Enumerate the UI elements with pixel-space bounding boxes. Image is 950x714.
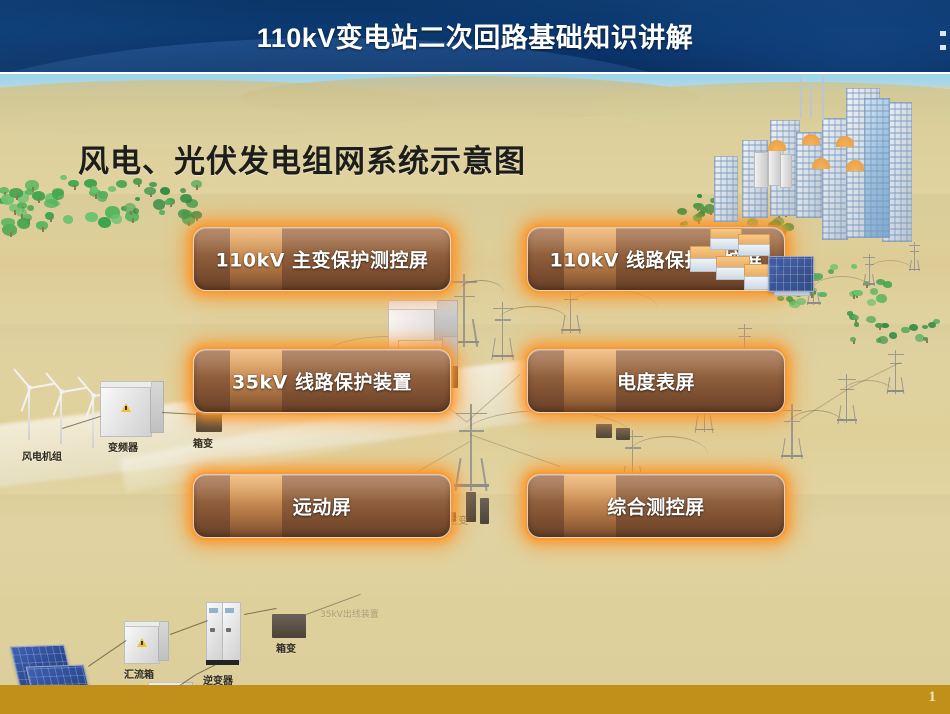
tree-foliage	[159, 210, 164, 215]
tree-trunk	[130, 211, 132, 215]
tree-foliage	[44, 199, 58, 208]
tree-foliage	[1, 218, 15, 227]
tree-foliage	[63, 215, 73, 224]
inverter-cabinet	[206, 602, 244, 664]
antenna-mast	[800, 78, 802, 118]
plant-dome	[802, 134, 820, 145]
btn-remote-control[interactable]: 远动屏	[193, 474, 451, 538]
building-pv-array	[768, 256, 814, 292]
frequency-converter-cabinet	[100, 379, 164, 435]
box-transformer-pv	[272, 614, 306, 638]
warning-triangle-icon	[137, 638, 147, 647]
presentation-slide: 110kV变电站二次回路基础知识讲解 变频器	[0, 0, 950, 714]
substation-device	[480, 498, 489, 524]
city-skyline	[650, 74, 950, 334]
label-wind-turbine-group: 风电机组	[22, 448, 62, 463]
label-main-transformer: 主变	[448, 512, 468, 527]
combiner-box-1	[124, 620, 170, 664]
pv-panel	[26, 664, 95, 685]
power-plant-building	[710, 228, 740, 248]
antenna-mast	[822, 76, 824, 120]
tree-trunk	[16, 195, 18, 200]
btn-integrated-control[interactable]: 综合测控屏	[527, 474, 785, 538]
tree-foliage	[180, 188, 186, 193]
label-box-transformer-wind: 箱变	[193, 435, 213, 450]
tree-foliage	[108, 186, 116, 191]
label-frequency-converter: 变频器	[108, 439, 138, 454]
tree-foliage	[111, 214, 122, 224]
tree-trunk	[150, 193, 152, 197]
tree-trunk	[21, 214, 23, 219]
connection-line	[88, 640, 127, 667]
plant-dome	[812, 158, 830, 169]
illustration-canvas: 变频器 箱变 风电机组 光伏阵列 汇流箱 汇流箱	[0, 74, 950, 685]
tree-trunk	[132, 218, 134, 223]
button-label: 110kV 主变保护测控屏	[194, 246, 450, 273]
cooling-tower	[754, 152, 768, 188]
tree-foliage	[180, 194, 192, 203]
page-heading: 风电、光伏发电组网系统示意图	[78, 136, 526, 181]
tree-foliage	[160, 187, 170, 195]
tree-foliage	[164, 200, 172, 205]
tree-trunk	[74, 185, 76, 190]
tree-trunk	[42, 227, 44, 232]
slide-title: 110kV变电站二次回路基础知识讲解	[0, 16, 950, 55]
tree-trunk	[38, 198, 40, 203]
wind-turbine	[14, 370, 44, 444]
page-number: 1	[929, 689, 937, 706]
connection-line	[170, 620, 208, 635]
button-label: 综合测控屏	[528, 493, 784, 520]
label-inverter: 逆变器	[203, 672, 233, 685]
tree-trunk	[853, 341, 855, 345]
tree-foliage	[52, 189, 64, 199]
label-box-transformer-pv: 箱变	[276, 640, 296, 655]
plant-dome	[836, 136, 854, 147]
tree-trunk	[196, 217, 198, 221]
footer-bar: 1	[0, 685, 950, 714]
button-label: 35kV 线路保护装置	[194, 368, 450, 395]
button-label: 电度表屏	[528, 368, 784, 395]
substation-device	[596, 424, 612, 438]
tree-foliage	[116, 180, 127, 187]
plant-dome	[846, 160, 864, 171]
button-label: 远动屏	[194, 493, 450, 520]
label-combiner-box-1: 汇流箱	[124, 666, 154, 681]
tree-trunk	[926, 340, 928, 344]
tree-trunk	[10, 232, 12, 237]
cooling-tower	[780, 154, 792, 188]
btn-energy-meter[interactable]: 电度表屏	[527, 349, 785, 413]
tree-foliage	[135, 197, 140, 201]
city-building	[714, 156, 738, 222]
btn-35kv-line-protection[interactable]: 35kV 线路保护装置	[193, 349, 451, 413]
tree-foliage	[60, 175, 67, 180]
tree-trunk	[196, 185, 198, 189]
wind-turbine	[46, 374, 76, 448]
substation-device	[616, 428, 630, 440]
tree-foliage	[17, 218, 30, 229]
label-obscured-device: 35kV出线装置	[320, 607, 379, 620]
tree-foliage	[27, 205, 34, 211]
power-plant-building	[738, 234, 768, 254]
tree-foliage	[25, 189, 34, 195]
tree-foliage	[98, 217, 111, 228]
tree-foliage	[133, 208, 139, 214]
btn-110kv-main-transformer[interactable]: 110kV 主变保护测控屏	[193, 227, 451, 291]
tree-trunk	[188, 222, 190, 226]
tree-foliage	[90, 186, 98, 193]
city-glass-tower	[864, 98, 890, 238]
tree-trunk	[50, 217, 52, 222]
tree-foliage	[97, 193, 107, 202]
warning-triangle-icon	[121, 403, 131, 412]
tree-foliage	[153, 199, 165, 209]
title-bar: 110kV变电站二次回路基础知识讲解	[0, 0, 950, 74]
plant-dome	[768, 140, 786, 151]
tree-trunk	[138, 183, 140, 187]
antenna-mast	[810, 84, 812, 118]
